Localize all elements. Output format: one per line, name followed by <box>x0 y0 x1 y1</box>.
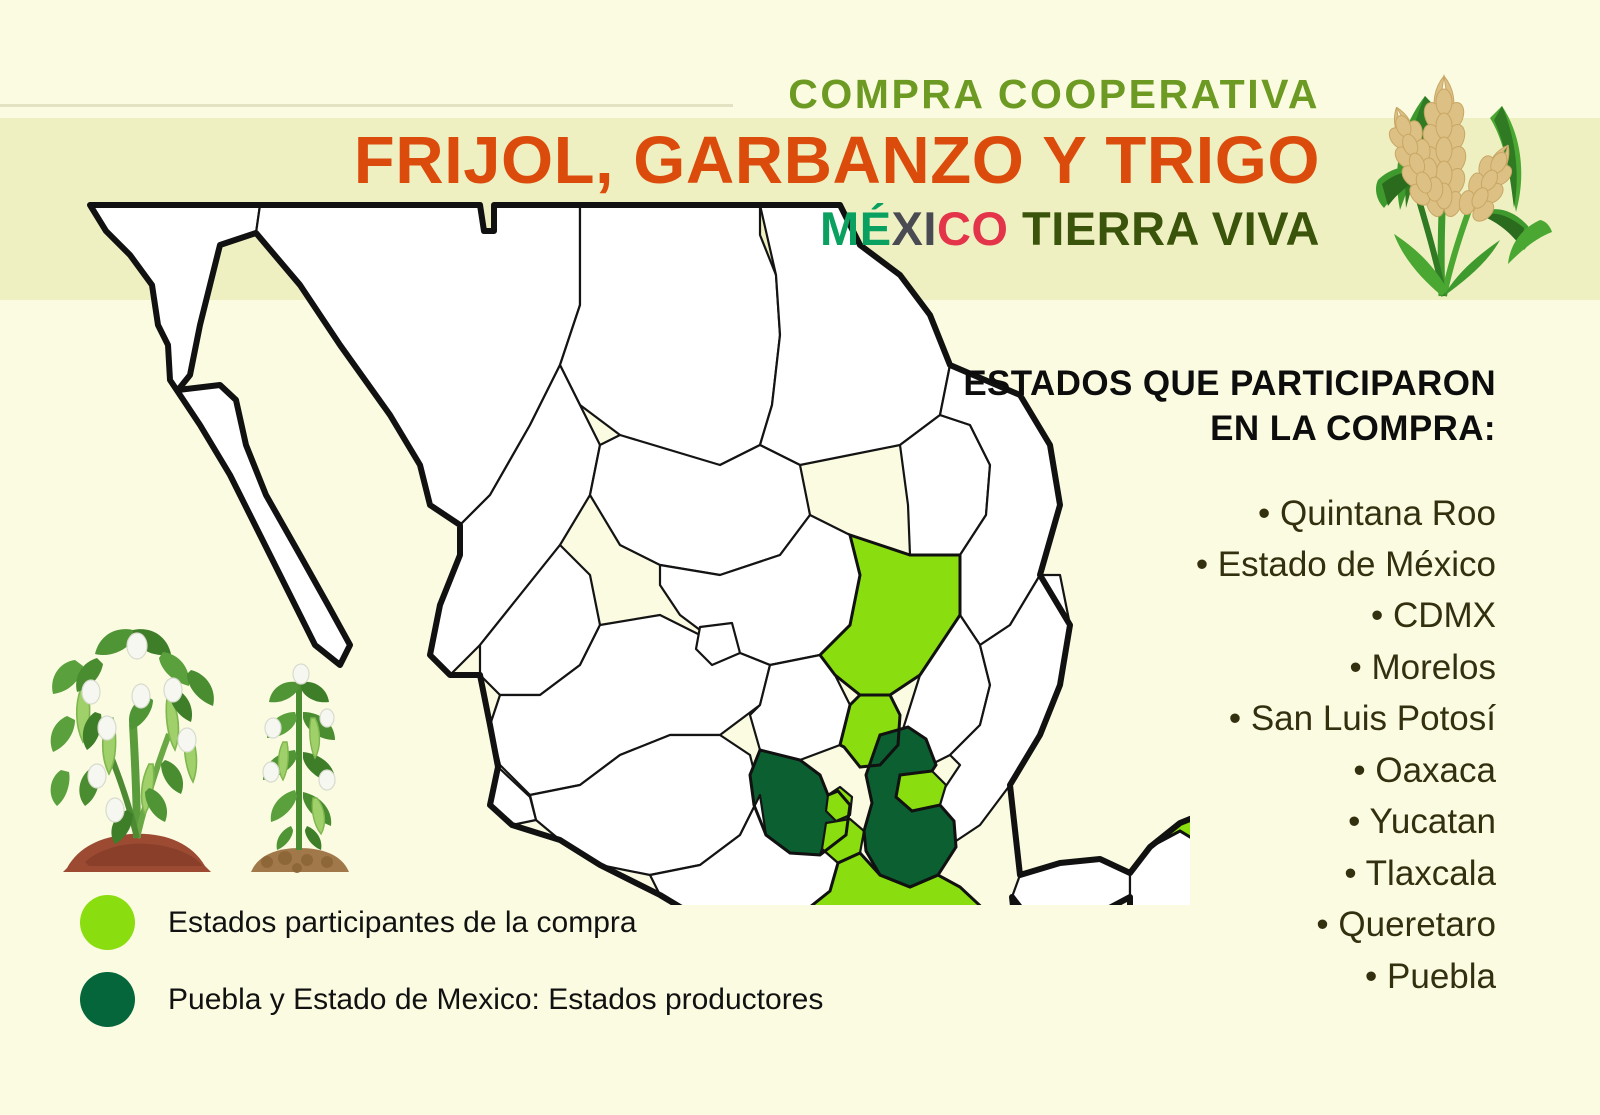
subtitle-me: MÉ <box>820 202 892 255</box>
states-panel: ESTADOS QUE PARTICIPARON EN LA COMPRA: •… <box>896 362 1496 1002</box>
wheat-icon <box>1330 58 1598 306</box>
header-subtitle: MÉXICO TIERRA VIVA <box>300 203 1320 256</box>
bean-plants-illustration <box>45 600 375 880</box>
states-heading: ESTADOS QUE PARTICIPARON EN LA COMPRA: <box>896 362 1496 452</box>
list-item: • San Luis Potosí <box>896 693 1496 744</box>
list-item: • Oaxaca <box>896 745 1496 796</box>
legend-swatch-producers <box>80 972 135 1027</box>
list-item: • Queretaro <box>896 899 1496 950</box>
list-item: • Yucatan <box>896 796 1496 847</box>
legend-label-participating: Estados participantes de la compra <box>168 906 637 940</box>
legend-row-producers: Puebla y Estado de Mexico: Estados produ… <box>80 972 823 1027</box>
list-item: • Estado de México <box>896 539 1496 590</box>
legend-row-participating: Estados participantes de la compra <box>80 895 823 950</box>
legend-label-producers: Puebla y Estado de Mexico: Estados produ… <box>168 983 823 1017</box>
bean-seedling-icon <box>251 664 349 873</box>
list-item: • Puebla <box>896 951 1496 1002</box>
subtitle-co: CO <box>937 202 1009 255</box>
list-item: • Tlaxcala <box>896 848 1496 899</box>
list-item: • CDMX <box>896 590 1496 641</box>
legend-swatch-participating <box>80 895 135 950</box>
list-item: • Quintana Roo <box>896 488 1496 539</box>
subtitle-tierra-viva: TIERRA VIVA <box>1008 202 1320 255</box>
states-heading-line1: ESTADOS QUE PARTICIPARON <box>896 362 1496 407</box>
states-heading-line2: EN LA COMPRA: <box>896 407 1496 452</box>
bean-plant-icon <box>51 629 214 872</box>
header-kicker: COMPRA COOPERATIVA <box>300 72 1320 116</box>
list-item: • Morelos <box>896 642 1496 693</box>
map-legend: Estados participantes de la compra Puebl… <box>80 895 823 1049</box>
states-list: • Quintana Roo • Estado de México • CDMX… <box>896 488 1496 1002</box>
subtitle-xi: XI <box>892 202 937 255</box>
state-baja-california <box>90 205 260 390</box>
header-text-block: COMPRA COOPERATIVA FRIJOL, GARBANZO Y TR… <box>300 72 1320 256</box>
header-main-title: FRIJOL, GARBANZO Y TRIGO <box>300 122 1320 199</box>
